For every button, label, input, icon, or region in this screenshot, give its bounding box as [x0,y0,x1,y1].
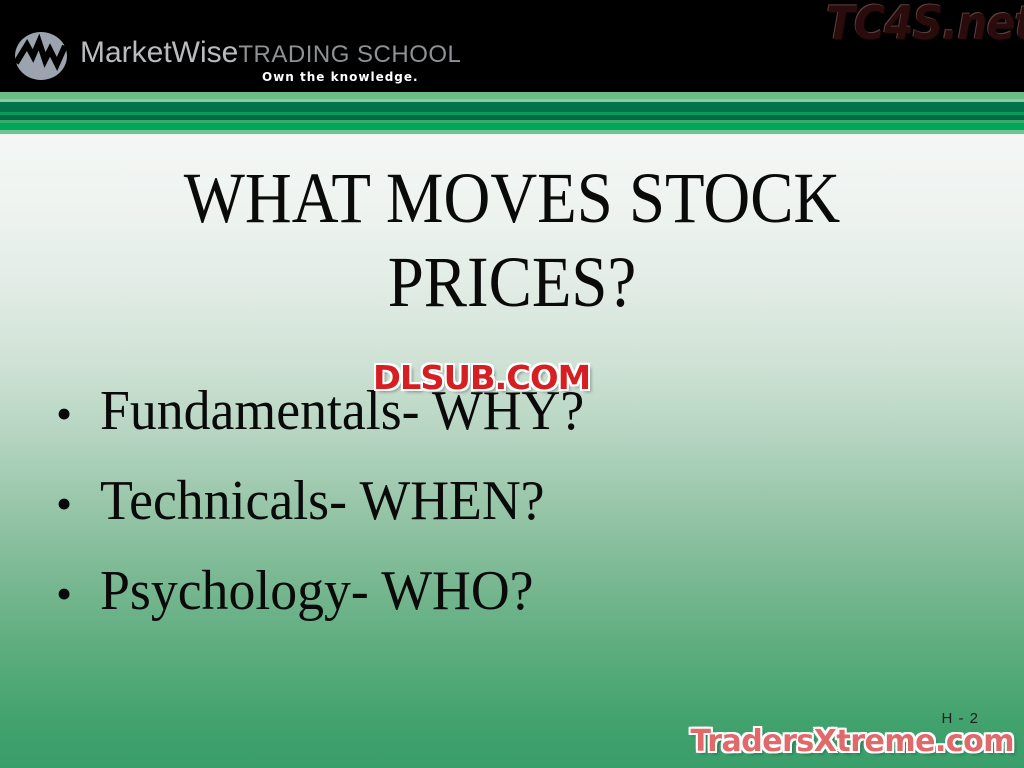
green-stripe-divider [0,92,1024,134]
bullet-dot-icon: • [56,369,100,459]
slide-title: WHAT MOVES STOCK PRICES? [105,156,919,324]
brand-wordmark: MarketWiseTRADING SCHOOL [80,38,461,68]
bullet-dot-icon: • [56,549,100,639]
list-item: • Technicals- WHEN? [56,456,986,546]
brand-secondary-text: TRADING SCHOOL [238,41,461,68]
brand-tagline: Own the knowledge. [262,70,419,84]
bullet-dot-icon: • [56,459,100,549]
list-item: • Psychology- WHO? [56,546,986,636]
bullet-label: Technicals- WHEN? [100,456,545,546]
bullet-list: • Fundamentals- WHY? • Technicals- WHEN?… [56,366,986,636]
bullet-label: Psychology- WHO? [100,546,534,636]
dlsub-watermark: DLSUB.COM [373,358,590,397]
tc4s-watermark: TC4S.net [826,0,1024,50]
brand-primary-text: MarketWise [80,36,238,69]
presentation-slide: MarketWiseTRADING SCHOOL Own the knowled… [0,0,1024,768]
slide-header-bar: MarketWiseTRADING SCHOOL Own the knowled… [0,0,1024,92]
marketwise-circle-chart-icon [12,30,70,82]
tradersxtreme-watermark: TradersXtreme.com [691,724,1014,759]
